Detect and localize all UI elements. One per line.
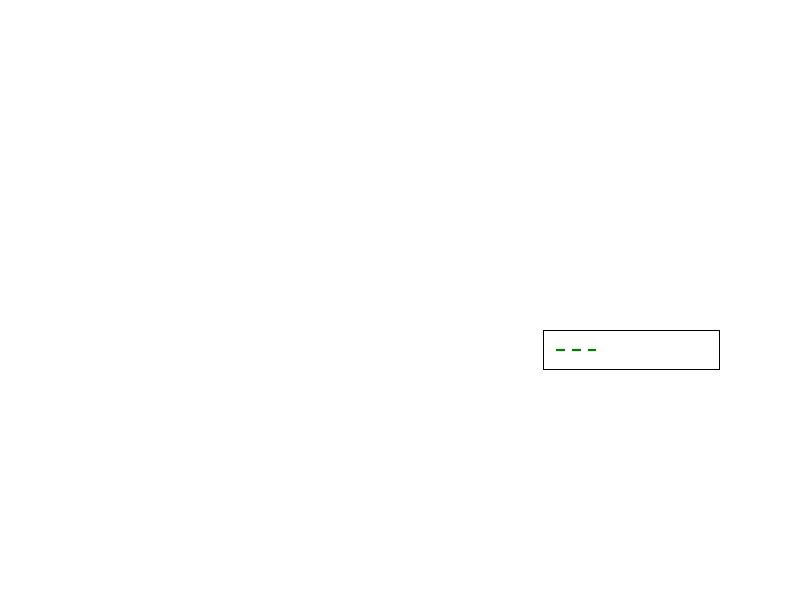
top-panel-histogram (0, 0, 800, 600)
matplotlib-figure (0, 0, 800, 600)
legend[interactable] (543, 330, 720, 370)
legend-line-sample (544, 331, 719, 369)
